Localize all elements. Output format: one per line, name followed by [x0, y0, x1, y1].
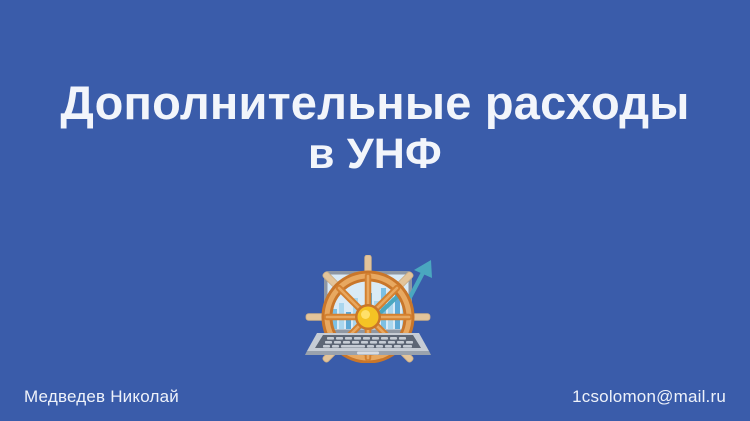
slide-footer: Медведев Николай 1csolomon@mail.ru [0, 373, 750, 421]
laptop-base [305, 333, 431, 355]
title-line-2: в УНФ [24, 128, 726, 180]
laptop-ship-wheel-growth-chart-icon [303, 255, 449, 363]
title-line-1: Дополнительные расходы [24, 78, 726, 128]
presentation-slide: Дополнительные расходы в УНФ [0, 0, 750, 421]
footer-email: 1csolomon@mail.ru [572, 387, 726, 407]
laptop-ship-wheel-illustration [303, 255, 449, 363]
footer-author: Медведев Николай [24, 387, 179, 407]
slide-title: Дополнительные расходы в УНФ [0, 78, 750, 180]
